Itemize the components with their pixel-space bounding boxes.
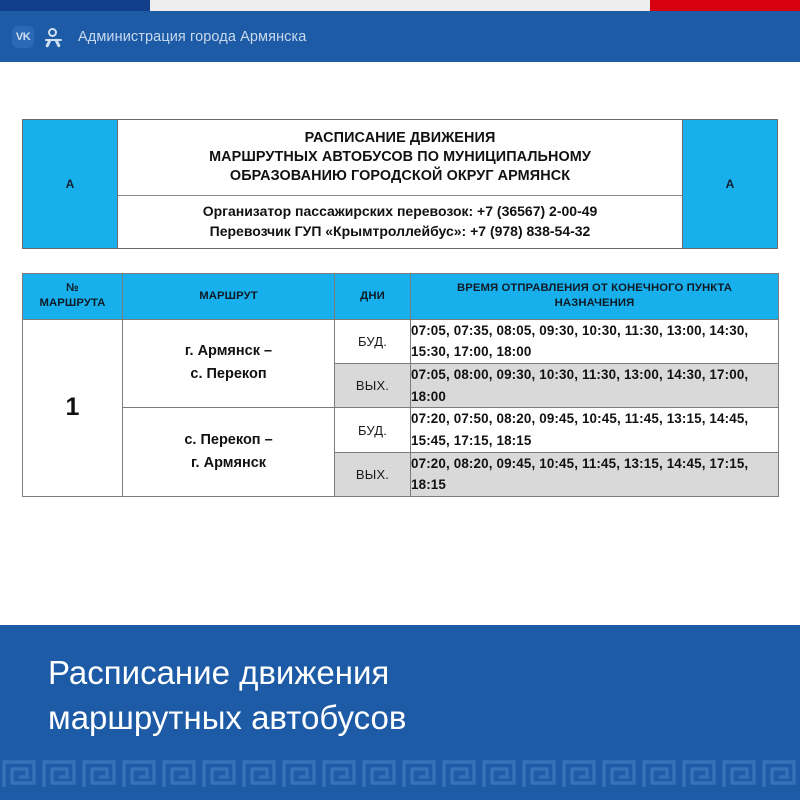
contact-organizer: Организатор пассажирских перевозок: +7 (… <box>203 202 598 222</box>
poster-heading: РАСПИСАНИЕ ДВИЖЕНИЯ МАРШРУТНЫХ АВТОБУСОВ… <box>118 120 682 196</box>
poster-page: VK Администрация города Армянска А РАСПИ… <box>0 0 800 800</box>
contacts-block: Организатор пассажирских перевозок: +7 (… <box>118 196 682 248</box>
vk-icon[interactable]: VK <box>12 26 34 48</box>
table-header-row: № МАРШРУТА МАРШРУТ ДНИ ВРЕМЯ ОТПРАВЛЕНИЯ… <box>23 274 779 320</box>
header-times-line1: ВРЕМЯ ОТПРАВЛЕНИЯ ОТ КОНЕЧНОГО ПУНКТА <box>457 282 732 294</box>
direction-forward-line1: г. Армянск – <box>185 343 272 359</box>
table-row: 1 г. Армянск – с. Перекоп БУД. 07:05, 07… <box>23 319 779 363</box>
greek-key-pattern <box>0 757 800 790</box>
contact-carrier: Перевозчик ГУП «Крымтроллейбус»: +7 (978… <box>210 222 591 242</box>
cell-direction-forward: г. Армянск – с. Перекоп <box>123 319 335 408</box>
heading-line-2: МАРШРУТНЫХ АВТОБУСОВ ПО МУНИЦИПАЛЬНОМУ <box>209 148 591 167</box>
cell-route-number: 1 <box>23 319 123 497</box>
title-center: РАСПИСАНИЕ ДВИЖЕНИЯ МАРШРУТНЫХ АВТОБУСОВ… <box>118 119 682 249</box>
direction-return-line2: г. Армянск <box>191 455 266 471</box>
cell-direction-return: с. Перекоп – г. Армянск <box>123 408 335 497</box>
header-route: МАРШРУТ <box>123 274 335 320</box>
side-letter-right: А <box>682 119 778 249</box>
account-name: Администрация города Армянска <box>78 29 306 45</box>
header-route-number: № МАРШРУТА <box>23 274 123 320</box>
schedule-table: № МАРШРУТА МАРШРУТ ДНИ ВРЕМЯ ОТПРАВЛЕНИЯ… <box>22 273 779 497</box>
banner-title: Расписание движения маршрутных автобусов <box>48 651 608 741</box>
title-block: А РАСПИСАНИЕ ДВИЖЕНИЯ МАРШРУТНЫХ АВТОБУС… <box>22 119 778 249</box>
banner-title-line1: Расписание движения <box>48 654 389 691</box>
flag-segment-red <box>650 0 800 11</box>
ok-icon-head <box>48 28 57 37</box>
cell-times: 07:20, 08:20, 09:45, 10:45, 11:45, 13:15… <box>411 452 779 496</box>
cell-times: 07:05, 08:00, 09:30, 10:30, 11:30, 13:00… <box>411 363 779 407</box>
table-row: с. Перекоп – г. Армянск БУД. 07:20, 07:5… <box>23 408 779 452</box>
header-days: ДНИ <box>335 274 411 320</box>
heading-line-1: РАСПИСАНИЕ ДВИЖЕНИЯ <box>305 129 496 148</box>
side-letter-left: А <box>22 119 118 249</box>
banner-title-line2: маршрутных автобусов <box>48 696 608 741</box>
bottom-banner: Расписание движения маршрутных автобусов <box>0 625 800 800</box>
direction-forward-line2: с. Перекоп <box>190 366 266 382</box>
cell-day-type: БУД. <box>335 408 411 452</box>
russian-flag-strip <box>0 0 800 11</box>
social-header-bar: VK Администрация города Армянска <box>0 11 800 62</box>
flag-segment-white <box>150 0 650 11</box>
header-times-line2: НАЗНАЧЕНИЯ <box>555 297 635 309</box>
banner-bottom-fill <box>0 790 800 800</box>
cell-times: 07:20, 07:50, 08:20, 09:45, 10:45, 11:45… <box>411 408 779 452</box>
odnoklassniki-icon[interactable] <box>42 26 64 48</box>
flag-segment-blue <box>0 0 150 11</box>
heading-line-3: ОБРАЗОВАНИЮ ГОРОДСКОЙ ОКРУГ АРМЯНСК <box>230 167 570 186</box>
cell-day-type: ВЫХ. <box>335 452 411 496</box>
header-route-number-line1: № <box>66 282 79 294</box>
header-times: ВРЕМЯ ОТПРАВЛЕНИЯ ОТ КОНЕЧНОГО ПУНКТА НА… <box>411 274 779 320</box>
header-route-number-line2: МАРШРУТА <box>39 297 105 309</box>
cell-day-type: БУД. <box>335 319 411 363</box>
direction-return-line1: с. Перекоп – <box>184 432 272 448</box>
cell-times: 07:05, 07:35, 08:05, 09:30, 10:30, 11:30… <box>411 319 779 363</box>
cell-day-type: ВЫХ. <box>335 363 411 407</box>
